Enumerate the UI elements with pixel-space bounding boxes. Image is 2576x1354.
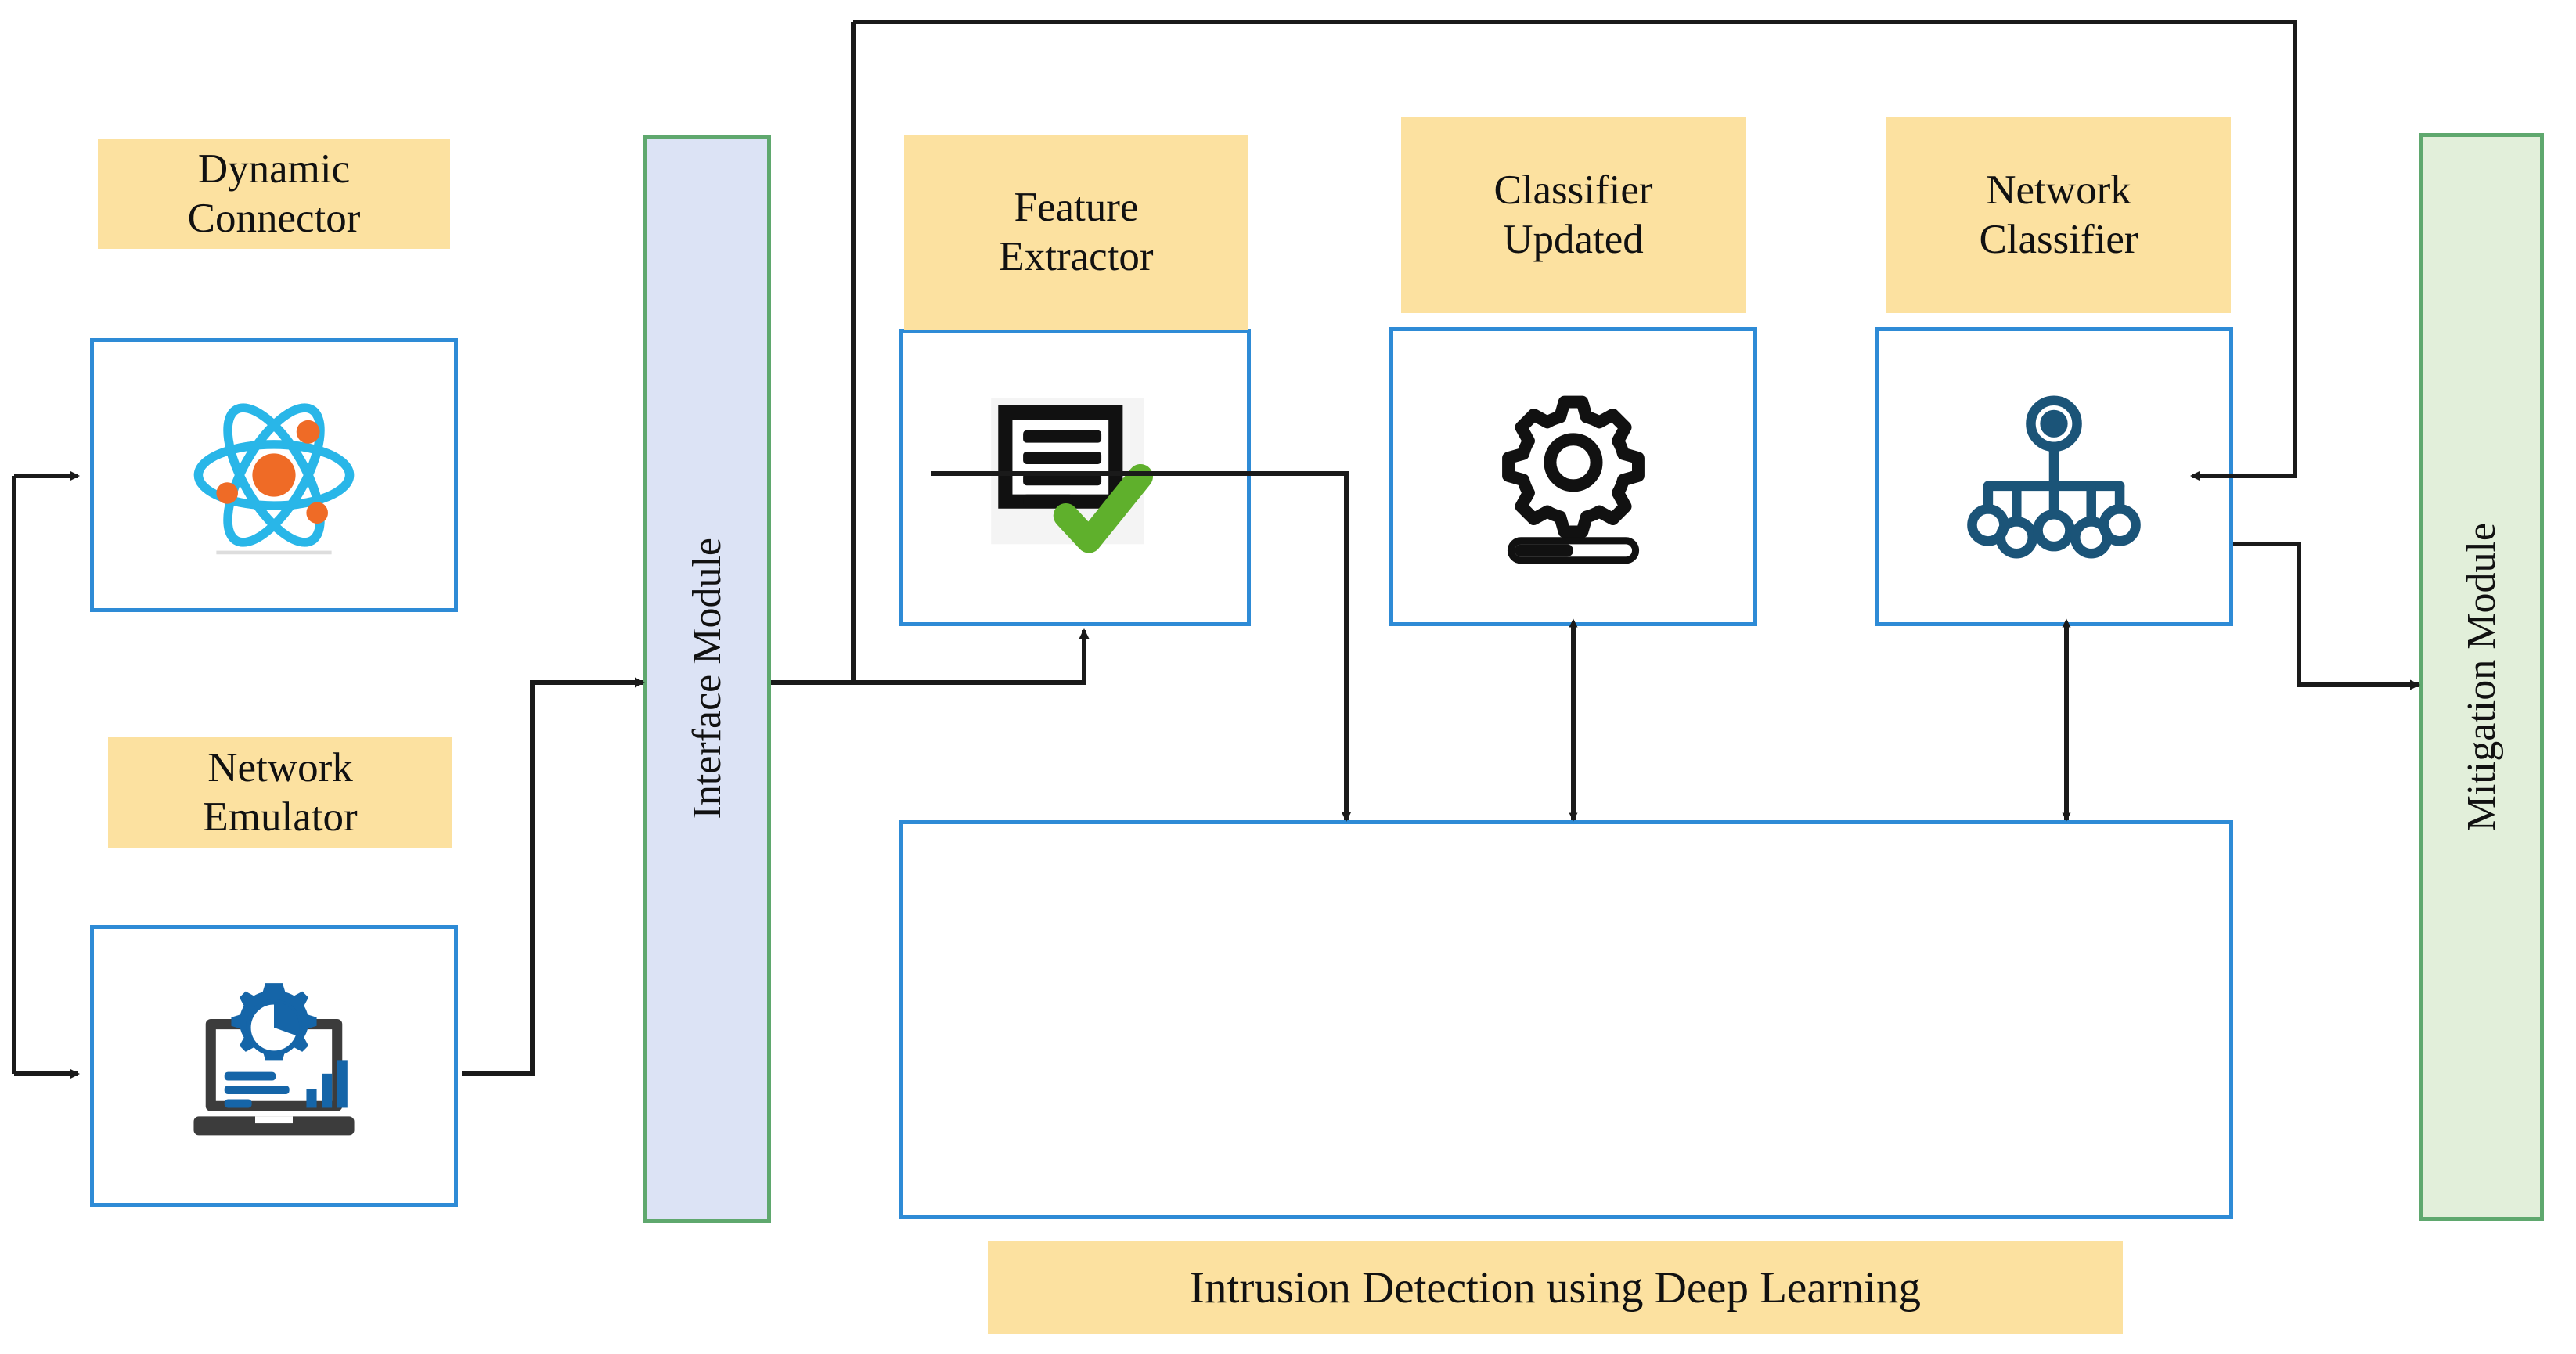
gear-progress-icon (1475, 387, 1671, 567)
atom-icon (184, 385, 364, 565)
dynamic-connector-label: Dynamic Connector (98, 139, 450, 249)
network-classifier-label: Network Classifier (1886, 117, 2231, 313)
main-panel[interactable] (899, 820, 2233, 1219)
classifier-updated-label: Classifier Updated (1401, 117, 1746, 313)
main-panel-caption-bar: Intrusion Detection using Deep Learning (988, 1241, 2123, 1334)
network-emulator-label: Network Emulator (108, 737, 452, 848)
interface-module[interactable]: Interface Module (643, 135, 771, 1223)
interface-module-label: Interface Module (684, 538, 730, 819)
network-emulator-box[interactable] (90, 925, 458, 1207)
hierarchy-tree-icon (1956, 385, 2152, 569)
dynamic-connector-box[interactable] (90, 338, 458, 612)
feature-extractor-label: Feature Extractor (904, 135, 1248, 330)
laptop-analytics-icon (180, 976, 368, 1156)
mitigation-module[interactable]: Mitigation Module (2419, 133, 2544, 1221)
network-classifier-box[interactable] (1875, 327, 2233, 626)
arrow-emulator-to-interface (462, 682, 643, 1074)
classifier-updated-box[interactable] (1389, 327, 1757, 626)
document-check-icon (977, 384, 1173, 571)
mitigation-module-label: Mitigation Module (2459, 523, 2505, 831)
arrow-network-classifier-to-mitigation (2233, 544, 2419, 685)
arrow-interface-to-feature-extractor (771, 630, 1084, 682)
feature-extractor-box[interactable] (899, 329, 1251, 626)
architecture-diagram: Dynamic Connector Network Emulator (0, 0, 2576, 1354)
